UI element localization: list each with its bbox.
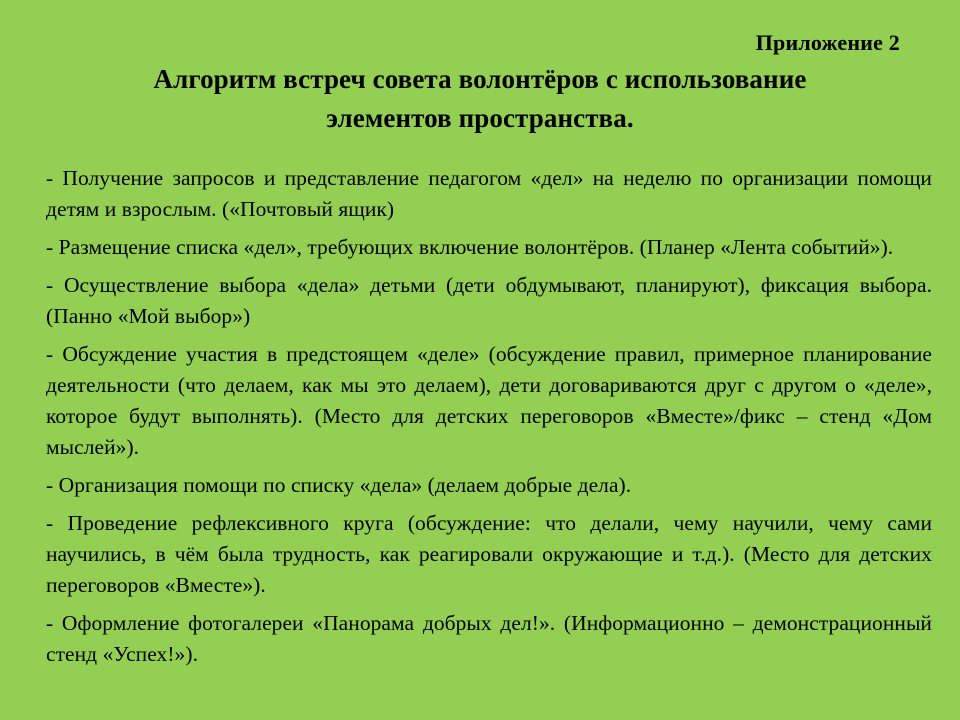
appendix-label: Приложение 2	[40, 30, 900, 55]
list-item-text: - Осуществление выбора «дела» детьми (де…	[46, 273, 932, 328]
list-item: - Получение запросов и представление пед…	[46, 163, 932, 225]
list-item: - Проведение рефлексивного круга (обсужд…	[46, 508, 932, 601]
list-item: - Осуществление выбора «дела» детьми (де…	[46, 270, 932, 332]
list-item: - Обсуждение участия в предстоящем «деле…	[46, 339, 932, 463]
list-item-text: - Получение запросов и представление пед…	[46, 166, 932, 221]
page-title-line-2: элементов пространства.	[326, 103, 633, 133]
page-title: Алгоритм встреч совета волонтёров с испо…	[46, 60, 914, 139]
list-item: - Оформление фотогалереи «Панорама добры…	[46, 608, 932, 670]
list-item-text: - Организация помощи по списку «дела» (д…	[46, 473, 631, 497]
slide-canvas: Приложение 2 Алгоритм встреч совета воло…	[0, 0, 960, 720]
page-title-line-1: Алгоритм встреч совета волонтёров с испо…	[154, 64, 807, 94]
list-item-text: - Размещение списка «дел», требующих вкл…	[46, 235, 893, 259]
list-item: - Организация помощи по списку «дела» (д…	[46, 470, 932, 501]
list-item: - Размещение списка «дел», требующих вкл…	[46, 232, 932, 263]
algorithm-step-list: - Получение запросов и представление пед…	[46, 163, 932, 670]
list-item-text: - Обсуждение участия в предстоящем «деле…	[46, 342, 932, 459]
list-item-text: - Проведение рефлексивного круга (обсужд…	[46, 511, 932, 597]
list-item-text: - Оформление фотогалереи «Панорама добры…	[46, 611, 932, 666]
